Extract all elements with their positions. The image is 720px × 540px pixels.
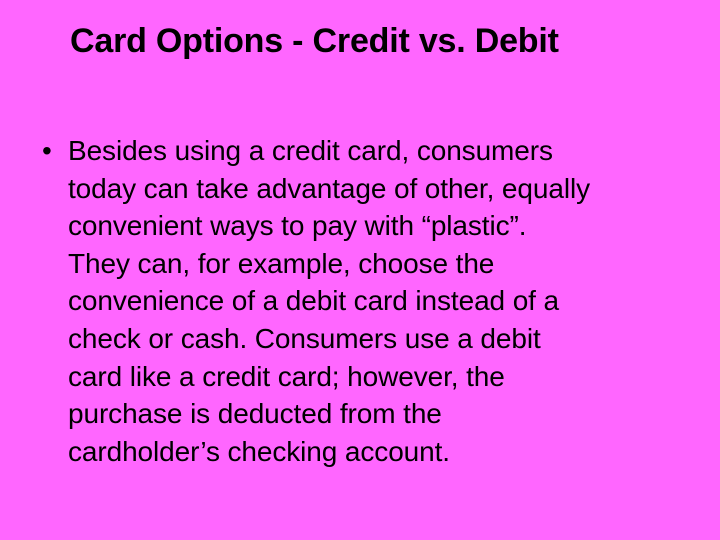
body-line: convenient ways to pay with “plastic”. bbox=[68, 207, 698, 245]
bullet-point-icon: • bbox=[38, 132, 68, 170]
body-line: Besides using a credit card, consumers bbox=[68, 132, 698, 170]
body-line: They can, for example, choose the bbox=[68, 245, 698, 283]
slide-title: Card Options - Credit vs. Debit bbox=[70, 20, 670, 62]
body-line: convenience of a debit card instead of a bbox=[68, 282, 698, 320]
presentation-slide: Card Options - Credit vs. Debit • Beside… bbox=[0, 0, 720, 540]
bullet-list-item: • Besides using a credit card, consumers… bbox=[38, 132, 698, 470]
body-line: today can take advantage of other, equal… bbox=[68, 170, 698, 208]
body-line: check or cash. Consumers use a debit bbox=[68, 320, 698, 358]
slide-body-content: • Besides using a credit card, consumers… bbox=[38, 132, 698, 470]
body-line: purchase is deducted from the bbox=[68, 395, 698, 433]
body-line: card like a credit card; however, the bbox=[68, 358, 698, 396]
body-line: cardholder’s checking account. bbox=[68, 433, 698, 471]
bullet-item-text: Besides using a credit card, consumers t… bbox=[68, 132, 698, 470]
